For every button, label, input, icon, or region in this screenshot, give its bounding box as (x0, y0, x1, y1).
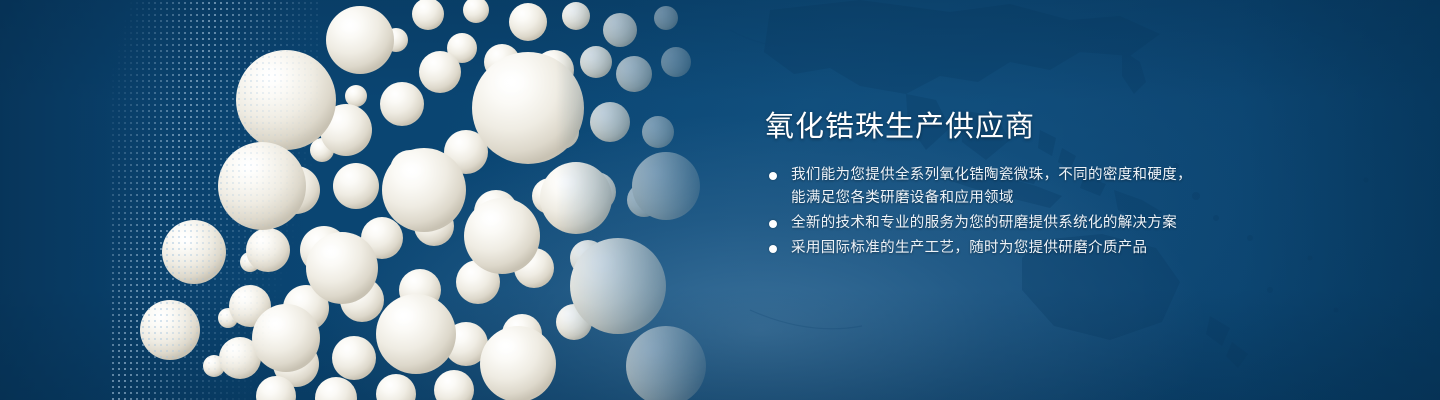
bullet-dot-icon (769, 245, 777, 253)
list-item-line: 能满足您各类研磨设备和应用领域 (791, 187, 1235, 210)
zirconia-beads-photo (110, 0, 730, 400)
banner-copy: 氧化锆珠生产供应商 我们能为您提供全系列氧化锆陶瓷微珠，不同的密度和硬度， 能满… (765, 108, 1235, 262)
list-item: 我们能为您提供全系列氧化锆陶瓷微珠，不同的密度和硬度， 能满足您各类研磨设备和应… (765, 164, 1235, 210)
page-title: 氧化锆珠生产供应商 (765, 108, 1235, 146)
list-item-line: 全新的技术和专业的服务为您的研磨提供系统化的解决方案 (791, 212, 1235, 235)
hero-banner: 氧化锆珠生产供应商 我们能为您提供全系列氧化锆陶瓷微珠，不同的密度和硬度， 能满… (0, 0, 1440, 400)
feature-list: 我们能为您提供全系列氧化锆陶瓷微珠，不同的密度和硬度， 能满足您各类研磨设备和应… (765, 164, 1235, 260)
bullet-dot-icon (769, 172, 777, 180)
list-item-line: 采用国际标准的生产工艺，随时为您提供研磨介质产品 (791, 237, 1235, 260)
list-item-line: 我们能为您提供全系列氧化锆陶瓷微珠，不同的密度和硬度， (791, 164, 1235, 187)
list-item: 全新的技术和专业的服务为您的研磨提供系统化的解决方案 (765, 212, 1235, 235)
bullet-dot-icon (769, 220, 777, 228)
list-item: 采用国际标准的生产工艺，随时为您提供研磨介质产品 (765, 237, 1235, 260)
